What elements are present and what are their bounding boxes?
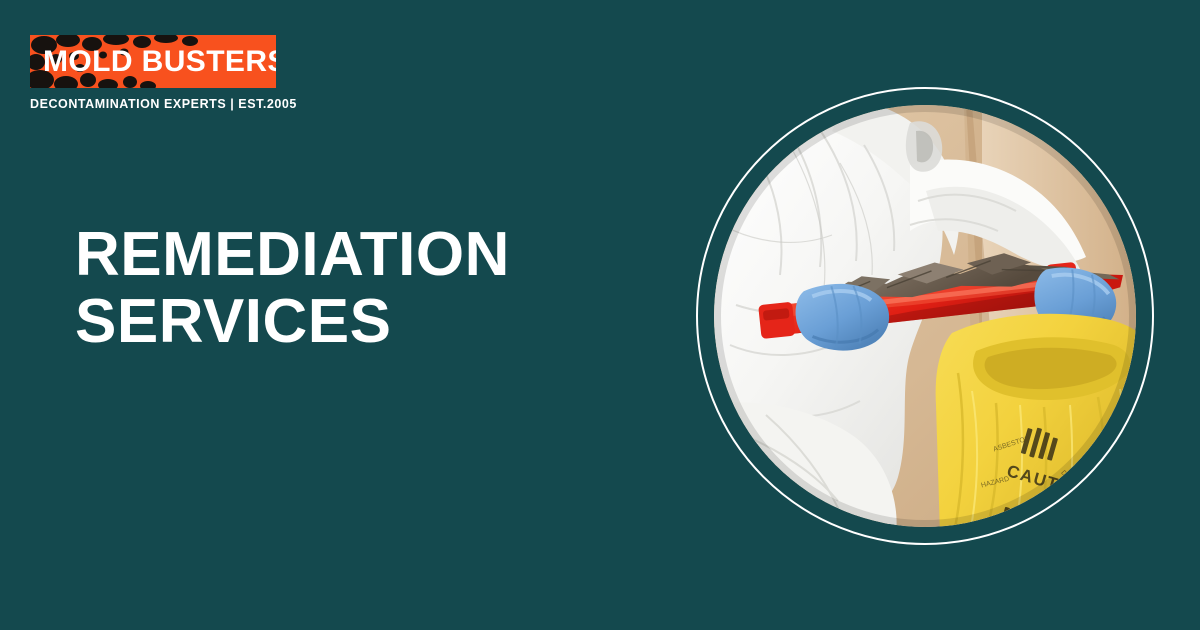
page-title: REMEDIATION SERVICES [75, 222, 510, 356]
promo-banner: MOLD BUSTERS ® DECONTAMINATION EXPERTS |… [0, 0, 1200, 630]
logo-wordmark: MOLD BUSTERS ® [43, 35, 276, 88]
page-title-line-2: SERVICES [75, 289, 510, 356]
logo-wordmark-text: MOLD BUSTERS [43, 47, 276, 77]
logo-tagline: DECONTAMINATION EXPERTS | EST.2005 [30, 97, 276, 111]
page-title-line-1: REMEDIATION [75, 222, 510, 289]
logo-badge: MOLD BUSTERS ® [30, 35, 276, 88]
hero-photo: CAUTION ASBESTOS HAZARD DANGER WASTE [714, 105, 1136, 527]
svg-text:WASTE: WASTE [1053, 507, 1076, 527]
hero-photo-illustration: CAUTION ASBESTOS HAZARD DANGER WASTE [714, 105, 1136, 527]
brand-logo[interactable]: MOLD BUSTERS ® DECONTAMINATION EXPERTS |… [30, 35, 276, 111]
